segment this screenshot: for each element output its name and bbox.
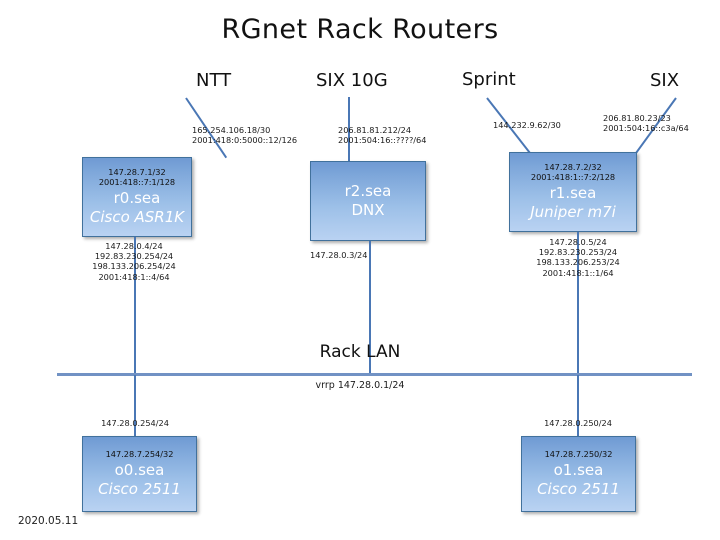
router-node-r0[interactable]: 147.28.7.1/32 2001:418::7:1/128 r0.sea C… <box>82 157 192 237</box>
vrrp-address-label: vrrp 147.28.0.1/24 <box>0 380 720 391</box>
console-o0-model: Cisco 2511 <box>98 480 181 499</box>
console-o0-lan-address: 147.28.0.254/24 <box>65 418 205 428</box>
uplink-six-line1: 206.81.80.23/23 <box>603 113 689 123</box>
router-r1-lan-addr-2: 198.133.206.253/24 <box>508 257 648 267</box>
router-r0-lan-addr-1: 192.83.230.254/24 <box>64 251 204 261</box>
uplink-sprint-line1: 144.232.9.62/30 <box>493 120 561 130</box>
router-r2-lan-addr-0: 147.28.0.3/24 <box>310 250 367 260</box>
uplink-six10g-line2: 2001:504:16::????/64 <box>338 135 426 145</box>
lan-label: Rack LAN <box>0 342 720 362</box>
console-o1-lan-addr: 147.28.0.250/24 <box>508 418 648 428</box>
router-r1-lan-addresses: 147.28.0.5/24 192.83.230.253/24 198.133.… <box>508 237 648 278</box>
console-o0-hostname: o0.sea <box>115 461 165 480</box>
router-r2-lan-addresses: 147.28.0.3/24 <box>310 250 367 260</box>
router-r0-lan-addresses: 147.28.0.4/24 192.83.230.254/24 198.133.… <box>64 241 204 282</box>
uplink-address-six-10g: 206.81.81.212/24 2001:504:16::????/64 <box>338 125 426 145</box>
peer-label-sprint: Sprint <box>462 69 516 90</box>
router-r2-model: DNX <box>351 201 384 220</box>
router-r1-loopback-v6: 2001:418:1::7:2/128 <box>531 172 615 182</box>
console-o1-loopback-v4: 147.28.7.250/32 <box>545 449 613 459</box>
console-o1-model: Cisco 2511 <box>537 480 620 499</box>
console-o1-lan-address: 147.28.0.250/24 <box>508 418 648 428</box>
date-stamp: 2020.05.11 <box>18 515 78 527</box>
uplink-six-line2: 2001:504:16::c3a/64 <box>603 123 689 133</box>
router-r0-lan-addr-3: 2001:418:1::4/64 <box>64 272 204 282</box>
console-o1-hostname: o1.sea <box>554 461 604 480</box>
router-r1-lan-addr-0: 147.28.0.5/24 <box>508 237 648 247</box>
router-r1-model: Juniper m7i <box>530 203 616 222</box>
page-title: RGnet Rack Routers <box>0 14 720 45</box>
router-r0-loopback-v6: 2001:418::7:1/128 <box>99 177 175 187</box>
uplink-six10g-line1: 206.81.81.212/24 <box>338 125 426 135</box>
router-r1-hostname: r1.sea <box>550 184 597 203</box>
router-r0-loopback-v4: 147.28.7.1/32 <box>108 167 165 177</box>
router-node-r1[interactable]: 147.28.7.2/32 2001:418:1::7:2/128 r1.sea… <box>509 152 637 232</box>
router-r0-model: Cisco ASR1K <box>90 208 184 227</box>
peer-label-six-10g: SIX 10G <box>316 70 388 91</box>
uplink-address-ntt: 165.254.106.18/30 2001:418:0:5000::12/12… <box>192 125 297 145</box>
router-r0-hostname: r0.sea <box>114 189 161 208</box>
router-r0-lan-addr-2: 198.133.206.254/24 <box>64 261 204 271</box>
router-node-r2[interactable]: r2.sea DNX <box>310 161 426 241</box>
network-diagram-slide: RGnet Rack Routers NTT SIX 10G Sprint SI… <box>0 0 720 540</box>
peer-label-six: SIX <box>650 70 679 91</box>
router-r1-lan-addr-3: 2001:418:1::1/64 <box>508 268 648 278</box>
uplink-ntt-line2: 2001:418:0:5000::12/126 <box>192 135 297 145</box>
peer-label-ntt: NTT <box>196 70 231 91</box>
uplink-ntt-line1: 165.254.106.18/30 <box>192 125 297 135</box>
console-o0-lan-addr: 147.28.0.254/24 <box>65 418 205 428</box>
router-r2-hostname: r2.sea <box>345 182 392 201</box>
console-node-o1[interactable]: 147.28.7.250/32 o1.sea Cisco 2511 <box>521 436 636 512</box>
console-node-o0[interactable]: 147.28.7.254/32 o0.sea Cisco 2511 <box>82 436 197 512</box>
console-o0-loopback-v4: 147.28.7.254/32 <box>106 449 174 459</box>
uplink-address-six: 206.81.80.23/23 2001:504:16::c3a/64 <box>603 113 689 133</box>
uplink-address-sprint: 144.232.9.62/30 <box>493 120 561 130</box>
router-r0-lan-addr-0: 147.28.0.4/24 <box>64 241 204 251</box>
rack-lan-bus <box>57 373 692 376</box>
router-r1-loopback-v4: 147.28.7.2/32 <box>544 162 601 172</box>
router-r1-lan-addr-1: 192.83.230.253/24 <box>508 247 648 257</box>
